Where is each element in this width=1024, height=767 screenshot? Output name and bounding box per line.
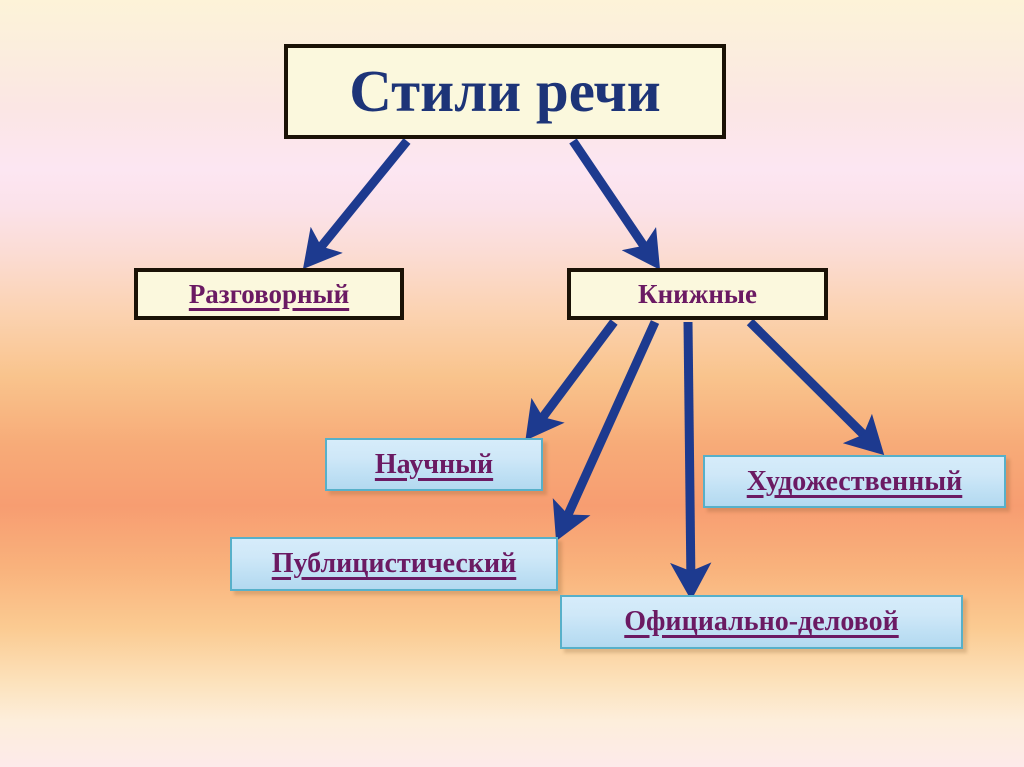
- page-title: Стили речи: [349, 62, 660, 121]
- node-label-hudozhestvenny: Художественный: [747, 468, 963, 496]
- node-nauchny[interactable]: Научный: [325, 438, 543, 491]
- node-stili-rechi[interactable]: Стили речи: [284, 44, 726, 139]
- node-label-publicistichesky: Публицистический: [272, 550, 517, 578]
- node-publicistichesky[interactable]: Публицистический: [230, 537, 558, 591]
- arrow-knizhnye-to-hudozhestvenny: [750, 322, 874, 445]
- node-razgovorny[interactable]: Разговорный: [134, 268, 404, 320]
- arrow-knizhnye-to-oficialno: [688, 322, 691, 586]
- node-label-knizhnye: Книжные: [638, 281, 757, 308]
- arrow-knizhnye-to-publicistichesky: [562, 322, 655, 528]
- arrow-stili-to-razgovorny: [312, 141, 407, 258]
- node-label-oficialno-delovoy: Официально-деловой: [624, 608, 898, 636]
- node-knizhnye[interactable]: Книжные: [567, 268, 828, 320]
- node-label-razgovorny: Разговорный: [189, 281, 349, 308]
- node-hudozhestvenny[interactable]: Художественный: [703, 455, 1006, 508]
- slide-canvas: Стили речи Разговорный Книжные Научный Х…: [0, 0, 1024, 767]
- arrow-stili-to-knizhnye: [573, 141, 652, 258]
- node-oficialno-delovoy[interactable]: Официально-деловой: [560, 595, 963, 649]
- node-label-nauchny: Научный: [375, 451, 493, 479]
- arrow-knizhnye-to-nauchny: [534, 322, 614, 429]
